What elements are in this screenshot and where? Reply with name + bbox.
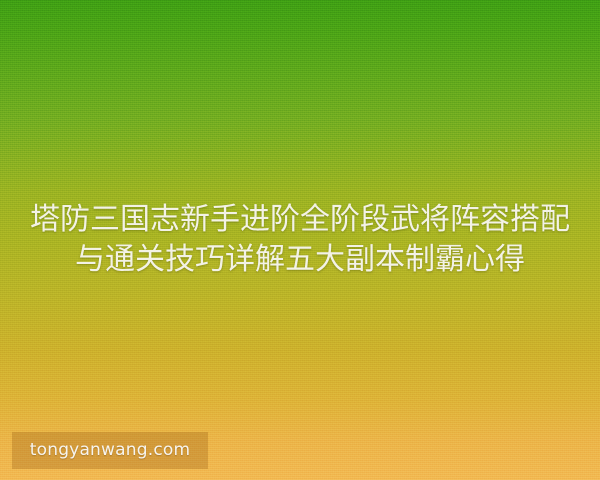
cover-image-canvas: 塔防三国志新手进阶全阶段武将阵容搭配与通关技巧详解五大副本制霸心得 tongya… [0, 0, 600, 480]
watermark-label: tongyanwang.com [30, 442, 190, 459]
page-title: 塔防三国志新手进阶全阶段武将阵容搭配与通关技巧详解五大副本制霸心得 [22, 200, 578, 280]
headline-container: 塔防三国志新手进阶全阶段武将阵容搭配与通关技巧详解五大副本制霸心得 [0, 0, 600, 480]
watermark-badge: tongyanwang.com [12, 432, 208, 469]
